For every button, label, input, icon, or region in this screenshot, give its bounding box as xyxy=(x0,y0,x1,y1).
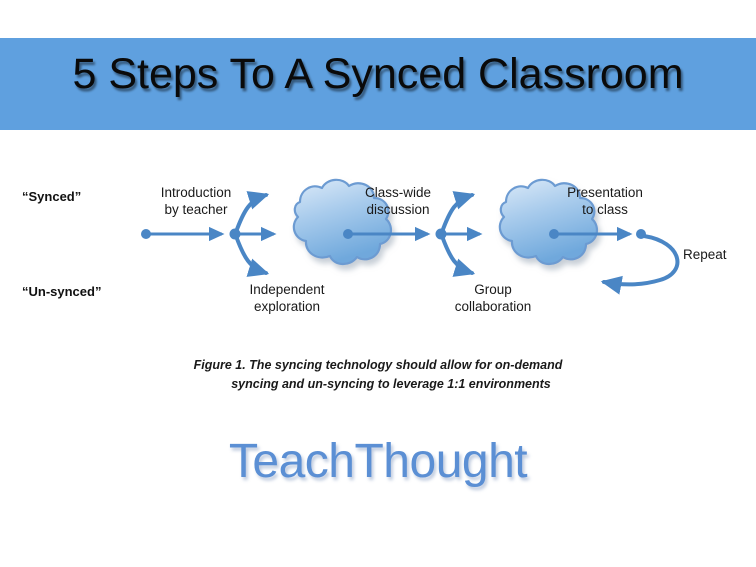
step-label-independent: Independent exploration xyxy=(232,281,342,316)
step-label-group: Group collaboration xyxy=(438,281,548,316)
step-line-1: Group xyxy=(438,281,548,298)
step-line-2: by teacher xyxy=(144,201,248,218)
row-label-unsynced: “Un-synced” xyxy=(22,284,101,299)
slide-canvas: 5 Steps To A Synced Classroom xyxy=(0,0,756,567)
step-line-2: discussion xyxy=(348,201,448,218)
step-line-2: exploration xyxy=(232,298,342,315)
repeat-loop-arrow xyxy=(604,236,677,284)
step-line-2: collaboration xyxy=(438,298,548,315)
process-diagram: “Synced” “Un-synced” Introduction by tea… xyxy=(0,130,756,370)
step-line-1: Introduction xyxy=(144,184,248,201)
step-line-1: Class-wide xyxy=(348,184,448,201)
caption-line-2: syncing and un-syncing to leverage 1:1 e… xyxy=(0,375,756,394)
repeat-label: Repeat xyxy=(683,246,743,263)
step-line-2: to class xyxy=(553,201,657,218)
step-label-presentation: Presentation to class xyxy=(553,184,657,219)
caption-line-1: Figure 1. The syncing technology should … xyxy=(0,356,756,375)
arrow-introduction xyxy=(141,229,222,239)
row-label-synced: “Synced” xyxy=(22,189,81,204)
figure-caption: Figure 1. The syncing technology should … xyxy=(0,356,756,394)
teachthought-logo: TeachThought xyxy=(0,434,756,489)
step-line-1: Presentation xyxy=(553,184,657,201)
step-label-introduction: Introduction by teacher xyxy=(144,184,248,219)
diagram-graphics xyxy=(0,130,756,370)
step-line-1: Independent xyxy=(232,281,342,298)
page-title: 5 Steps To A Synced Classroom xyxy=(0,50,756,99)
step-label-class-wide: Class-wide discussion xyxy=(348,184,448,219)
